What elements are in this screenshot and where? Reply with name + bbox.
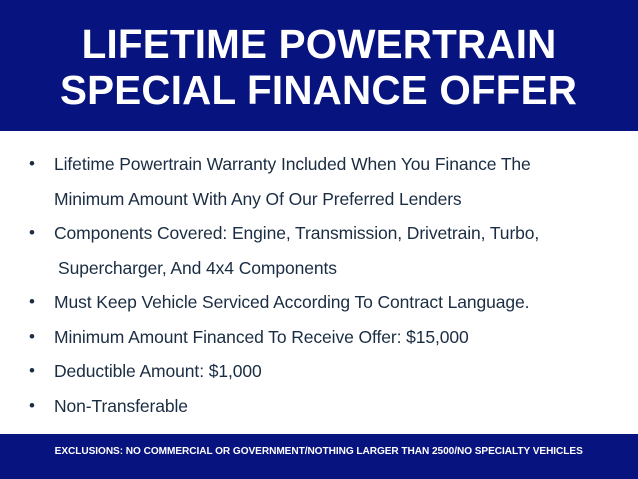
list-item: • Components Covered: Engine, Transmissi… xyxy=(22,216,624,285)
bullet-dot-icon: • xyxy=(29,320,43,355)
list-item-text: Lifetime Powertrain Warranty Included Wh… xyxy=(52,147,624,216)
list-item-line: Lifetime Powertrain Warranty Included Wh… xyxy=(52,147,624,182)
header-banner: LIFETIME POWERTRAIN SPECIAL FINANCE OFFE… xyxy=(0,0,638,131)
bullet-dot-icon: • xyxy=(29,389,43,424)
list-item-line: Minimum Amount Financed To Receive Offer… xyxy=(52,320,624,355)
list-item-text: Non-Transferable xyxy=(52,389,624,424)
page-title-line-1: LIFETIME POWERTRAIN xyxy=(82,21,557,67)
bullet-dot-icon: • xyxy=(29,354,43,389)
list-item-line: Deductible Amount: $1,000 xyxy=(52,354,624,389)
list-item: • Minimum Amount Financed To Receive Off… xyxy=(22,320,624,355)
list-item: • Deductible Amount: $1,000 xyxy=(22,354,624,389)
list-item-line: Minimum Amount With Any Of Our Preferred… xyxy=(52,182,624,217)
bullet-dot-icon: • xyxy=(29,285,43,320)
bullet-dot-icon: • xyxy=(29,216,43,251)
list-item-line: Must Keep Vehicle Serviced According To … xyxy=(52,285,624,320)
list-item: • Non-Transferable xyxy=(22,389,624,424)
exclusions-disclaimer: EXCLUSIONS: NO COMMERCIAL OR GOVERNMENT/… xyxy=(55,445,583,458)
list-item-text: Minimum Amount Financed To Receive Offer… xyxy=(52,320,624,355)
bullet-dot-icon: • xyxy=(29,147,43,182)
footer-banner: EXCLUSIONS: NO COMMERCIAL OR GOVERNMENT/… xyxy=(0,434,638,479)
list-item-line: Supercharger, And 4x4 Components xyxy=(52,251,624,286)
list-item-text: Must Keep Vehicle Serviced According To … xyxy=(52,285,624,320)
list-item-line: Non-Transferable xyxy=(52,389,624,424)
page-title-line-2: SPECIAL FINANCE OFFER xyxy=(60,67,577,113)
list-item: • Lifetime Powertrain Warranty Included … xyxy=(22,147,624,216)
list-item: • Must Keep Vehicle Serviced According T… xyxy=(22,285,624,320)
list-item-text: Components Covered: Engine, Transmission… xyxy=(52,216,624,285)
list-item-text: Deductible Amount: $1,000 xyxy=(52,354,624,389)
list-item-line: Components Covered: Engine, Transmission… xyxy=(52,216,624,251)
offer-details-body: • Lifetime Powertrain Warranty Included … xyxy=(0,131,638,434)
offer-slide: LIFETIME POWERTRAIN SPECIAL FINANCE OFFE… xyxy=(0,0,638,479)
offer-terms-list: • Lifetime Powertrain Warranty Included … xyxy=(22,147,624,423)
